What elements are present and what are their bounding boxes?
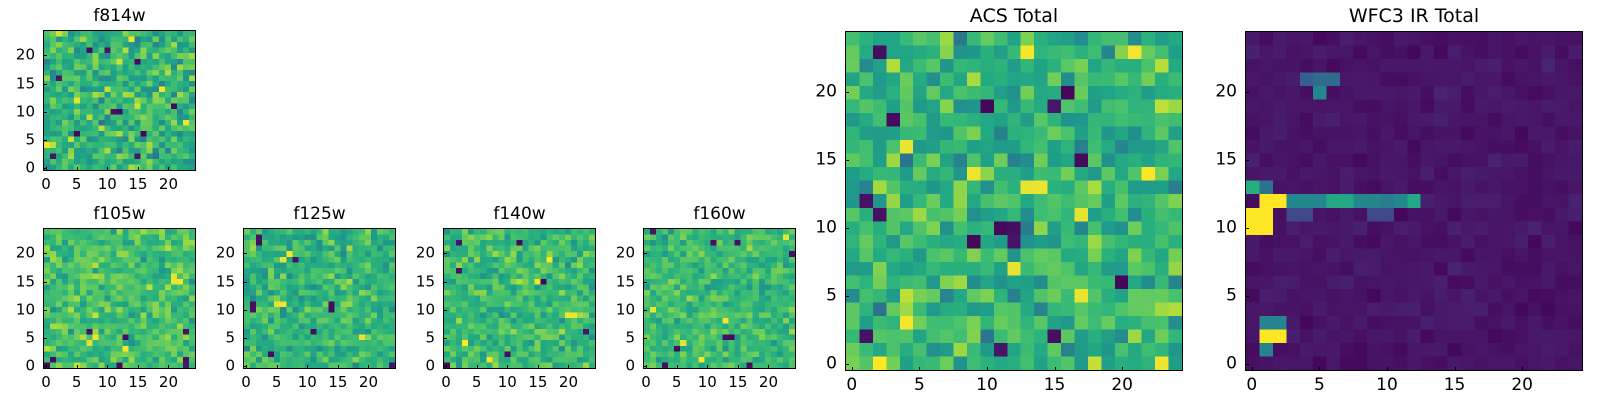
y-tickmark bbox=[443, 310, 447, 311]
x-tickmark bbox=[919, 367, 920, 371]
y-tick-label: 5 bbox=[0, 330, 35, 345]
y-tickmark bbox=[845, 160, 849, 161]
heatmap-image bbox=[644, 229, 795, 368]
y-tickmark bbox=[845, 364, 849, 365]
y-tick-label: 5 bbox=[1185, 288, 1237, 305]
x-tickmark bbox=[138, 167, 139, 171]
x-tick-label: 0 bbox=[1222, 377, 1282, 394]
y-tick-label: 15 bbox=[0, 274, 35, 289]
x-tickmark bbox=[538, 365, 539, 369]
x-tick-label: 20 bbox=[138, 375, 198, 390]
x-tickmark bbox=[46, 365, 47, 369]
y-tick-label: 15 bbox=[383, 274, 435, 289]
x-tickmark bbox=[446, 365, 447, 369]
y-tick-label: 5 bbox=[785, 288, 837, 305]
y-tickmark bbox=[43, 140, 47, 141]
x-tickmark bbox=[246, 365, 247, 369]
x-tick-label: 20 bbox=[338, 375, 398, 390]
y-tickmark bbox=[43, 55, 47, 56]
y-tickmark bbox=[443, 282, 447, 283]
y-tickmark bbox=[443, 253, 447, 254]
y-tickmark bbox=[643, 338, 647, 339]
y-tick-label: 15 bbox=[1185, 152, 1237, 169]
x-tickmark bbox=[307, 365, 308, 369]
x-tickmark bbox=[738, 365, 739, 369]
y-tick-label: 0 bbox=[183, 359, 235, 374]
heatmap-axes[interactable] bbox=[243, 228, 396, 369]
heatmap-image bbox=[444, 229, 595, 368]
x-tickmark bbox=[707, 365, 708, 369]
panel-title: ACS Total bbox=[845, 7, 1183, 26]
x-tick-label: 15 bbox=[1025, 377, 1085, 394]
x-tickmark bbox=[1122, 367, 1123, 371]
x-tickmark bbox=[107, 365, 108, 369]
x-tickmark bbox=[1319, 367, 1320, 371]
y-tickmark bbox=[443, 338, 447, 339]
x-tickmark bbox=[987, 367, 988, 371]
y-tickmark bbox=[43, 282, 47, 283]
y-tickmark bbox=[1245, 296, 1249, 297]
y-tick-label: 0 bbox=[0, 161, 35, 176]
x-tick-label: 20 bbox=[1092, 377, 1152, 394]
x-tickmark bbox=[368, 365, 369, 369]
x-tickmark bbox=[1252, 367, 1253, 371]
heatmap-axes[interactable] bbox=[1245, 31, 1583, 371]
heatmap-axes[interactable] bbox=[845, 31, 1183, 371]
x-tickmark bbox=[568, 365, 569, 369]
x-tick-label: 20 bbox=[138, 177, 198, 192]
x-tick-label: 20 bbox=[538, 375, 598, 390]
y-tick-label: 20 bbox=[1185, 84, 1237, 101]
x-tickmark bbox=[768, 365, 769, 369]
x-tickmark bbox=[1455, 367, 1456, 371]
x-tick-label: 10 bbox=[957, 377, 1017, 394]
y-tick-label: 0 bbox=[583, 359, 635, 374]
x-tick-label: 20 bbox=[1492, 377, 1552, 394]
y-tickmark bbox=[243, 253, 247, 254]
y-tick-label: 10 bbox=[0, 104, 35, 119]
y-tickmark bbox=[243, 310, 247, 311]
x-tickmark bbox=[277, 365, 278, 369]
y-tick-label: 15 bbox=[183, 274, 235, 289]
y-tickmark bbox=[43, 310, 47, 311]
heatmap-axes[interactable] bbox=[43, 30, 196, 171]
heatmap-image bbox=[44, 229, 195, 368]
y-tick-label: 10 bbox=[785, 220, 837, 237]
y-tick-label: 20 bbox=[0, 246, 35, 261]
panel-title: f814w bbox=[43, 8, 196, 25]
y-tick-label: 15 bbox=[785, 152, 837, 169]
heatmap-axes[interactable] bbox=[43, 228, 196, 369]
y-tick-label: 10 bbox=[1185, 220, 1237, 237]
heatmap-image bbox=[44, 31, 195, 170]
y-tickmark bbox=[1245, 364, 1249, 365]
x-tickmark bbox=[77, 365, 78, 369]
x-tickmark bbox=[646, 365, 647, 369]
y-tick-label: 20 bbox=[0, 48, 35, 63]
x-tick-label: 0 bbox=[822, 377, 882, 394]
y-tick-label: 20 bbox=[383, 246, 435, 261]
y-tickmark bbox=[643, 310, 647, 311]
y-tick-label: 0 bbox=[383, 359, 435, 374]
y-tickmark bbox=[845, 296, 849, 297]
y-tick-label: 15 bbox=[0, 76, 35, 91]
y-tickmark bbox=[1245, 92, 1249, 93]
panel-title: f140w bbox=[443, 206, 596, 223]
x-tickmark bbox=[338, 365, 339, 369]
heatmap-axes[interactable] bbox=[443, 228, 596, 369]
x-tickmark bbox=[138, 365, 139, 369]
y-tick-label: 5 bbox=[583, 330, 635, 345]
y-tickmark bbox=[845, 92, 849, 93]
x-tick-label: 10 bbox=[1357, 377, 1417, 394]
y-tick-label: 15 bbox=[583, 274, 635, 289]
y-tickmark bbox=[43, 338, 47, 339]
y-tickmark bbox=[43, 84, 47, 85]
y-tick-label: 0 bbox=[0, 359, 35, 374]
panel-title: f160w bbox=[643, 206, 796, 223]
y-tick-label: 10 bbox=[183, 302, 235, 317]
x-tick-label: 5 bbox=[889, 377, 949, 394]
y-tickmark bbox=[1245, 228, 1249, 229]
panel-title: WFC3 IR Total bbox=[1245, 7, 1583, 26]
y-tickmark bbox=[643, 282, 647, 283]
y-tick-label: 20 bbox=[183, 246, 235, 261]
y-tick-label: 10 bbox=[0, 302, 35, 317]
y-tick-label: 20 bbox=[785, 84, 837, 101]
x-tick-label: 5 bbox=[1289, 377, 1349, 394]
heatmap-image bbox=[846, 32, 1182, 370]
x-tickmark bbox=[168, 365, 169, 369]
matplotlib-figure: f814w0510152005101520f105w05101520051015… bbox=[0, 0, 1600, 400]
x-tick-label: 15 bbox=[1425, 377, 1485, 394]
y-tickmark bbox=[43, 112, 47, 113]
x-tickmark bbox=[107, 167, 108, 171]
y-tickmark bbox=[243, 338, 247, 339]
heatmap-image bbox=[1246, 32, 1582, 370]
y-tick-label: 5 bbox=[383, 330, 435, 345]
x-tickmark bbox=[1055, 367, 1056, 371]
y-tick-label: 20 bbox=[583, 246, 635, 261]
y-tickmark bbox=[845, 228, 849, 229]
x-tickmark bbox=[1522, 367, 1523, 371]
x-tickmark bbox=[46, 167, 47, 171]
panel-title: f125w bbox=[243, 206, 396, 223]
x-tickmark bbox=[852, 367, 853, 371]
x-tickmark bbox=[507, 365, 508, 369]
panel-title: f105w bbox=[43, 206, 196, 223]
x-tickmark bbox=[1387, 367, 1388, 371]
y-tick-label: 0 bbox=[785, 356, 837, 373]
x-tickmark bbox=[677, 365, 678, 369]
y-tickmark bbox=[1245, 160, 1249, 161]
y-tickmark bbox=[643, 253, 647, 254]
y-tick-label: 10 bbox=[383, 302, 435, 317]
x-tick-label: 20 bbox=[738, 375, 798, 390]
y-tickmark bbox=[43, 253, 47, 254]
x-tickmark bbox=[477, 365, 478, 369]
y-tick-label: 10 bbox=[583, 302, 635, 317]
x-tickmark bbox=[168, 167, 169, 171]
x-tickmark bbox=[77, 167, 78, 171]
y-tick-label: 5 bbox=[0, 132, 35, 147]
y-tick-label: 5 bbox=[183, 330, 235, 345]
heatmap-axes[interactable] bbox=[643, 228, 796, 369]
y-tick-label: 0 bbox=[1185, 356, 1237, 373]
y-tickmark bbox=[243, 282, 247, 283]
heatmap-image bbox=[244, 229, 395, 368]
